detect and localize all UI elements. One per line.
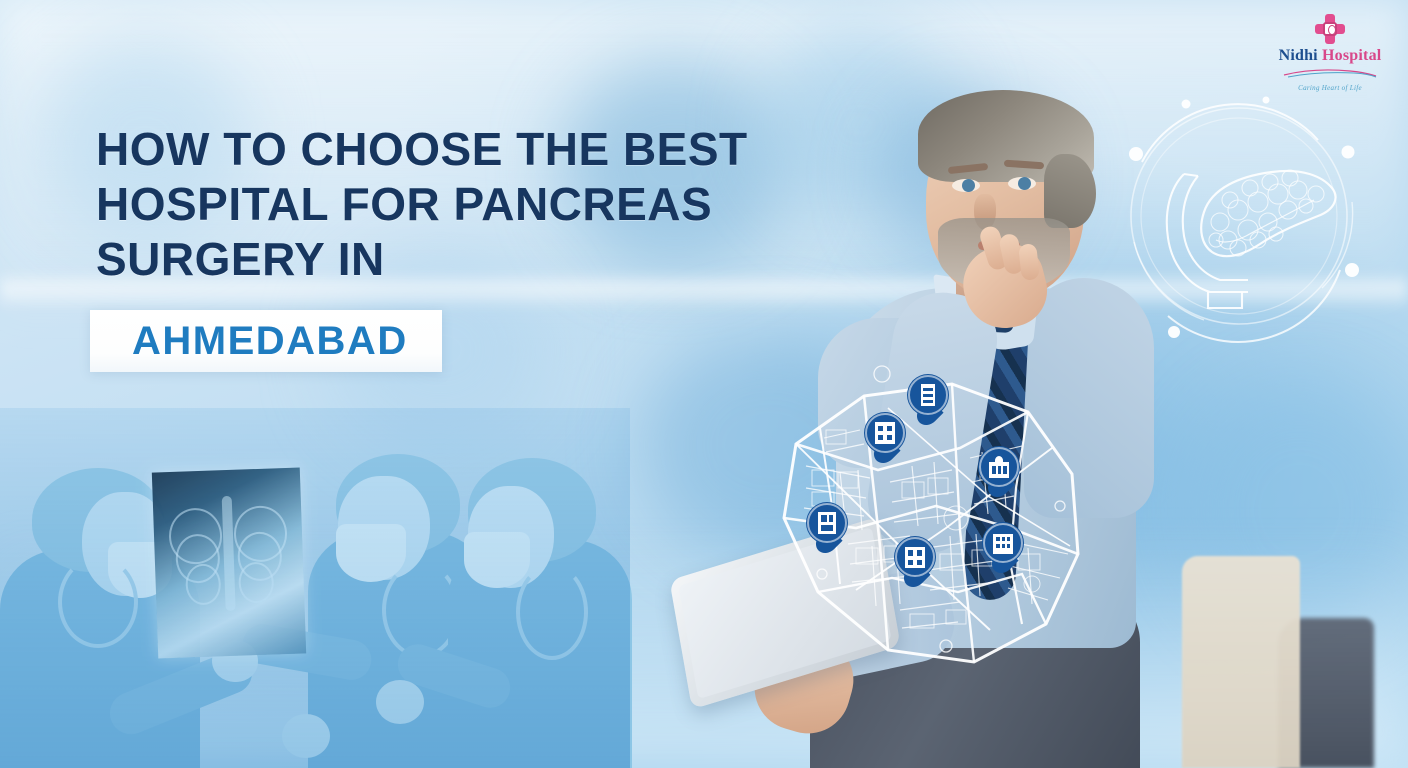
headline-line-2: HOSPITAL FOR PANCREAS bbox=[96, 177, 996, 232]
medical-center-icon bbox=[989, 456, 1009, 478]
logo-name: Nidhi Hospital bbox=[1268, 47, 1392, 65]
headline-line-1: HOW TO CHOOSE THE BEST bbox=[96, 122, 996, 177]
city-map-hologram bbox=[760, 378, 1090, 678]
map-pin-hospital-2[interactable] bbox=[907, 374, 949, 428]
logo-name-secondary: Hospital bbox=[1322, 47, 1381, 64]
headline-line-3: SURGERY IN bbox=[96, 232, 996, 287]
page-title: HOW TO CHOOSE THE BEST HOSPITAL FOR PANC… bbox=[96, 122, 996, 287]
city-highlight-box: AHMEDABAD bbox=[90, 310, 442, 372]
surgical-team-photo bbox=[0, 408, 630, 768]
hospital-building-icon bbox=[875, 422, 895, 444]
hospital-logo[interactable]: Nidhi Hospital Caring Heart of Life bbox=[1268, 14, 1392, 92]
team-photo-blue-tint bbox=[0, 408, 630, 768]
hospital-complex-icon bbox=[993, 532, 1013, 554]
map-pin-hospital-5[interactable] bbox=[894, 536, 936, 590]
logo-tagline: Caring Heart of Life bbox=[1268, 84, 1392, 92]
map-pin-hospital-4[interactable] bbox=[806, 502, 848, 556]
man-iris-right bbox=[1018, 177, 1031, 190]
map-pin-hospital-3[interactable] bbox=[978, 446, 1020, 500]
logo-name-primary: Nidhi bbox=[1279, 47, 1318, 64]
ambulance-bay-icon bbox=[817, 512, 837, 534]
clinic-tower-icon bbox=[918, 384, 938, 406]
office-chair bbox=[1182, 556, 1300, 768]
hospital-building-icon bbox=[905, 546, 925, 568]
city-name: AHMEDABAD bbox=[90, 319, 408, 364]
map-pin-hospital-1[interactable] bbox=[864, 412, 906, 466]
map-pin-hospital-6[interactable] bbox=[982, 522, 1024, 576]
logo-swoosh bbox=[1282, 69, 1378, 78]
pancreas-surgery-banner: HOW TO CHOOSE THE BEST HOSPITAL FOR PANC… bbox=[0, 0, 1408, 768]
medical-cross-icon bbox=[1315, 14, 1345, 44]
